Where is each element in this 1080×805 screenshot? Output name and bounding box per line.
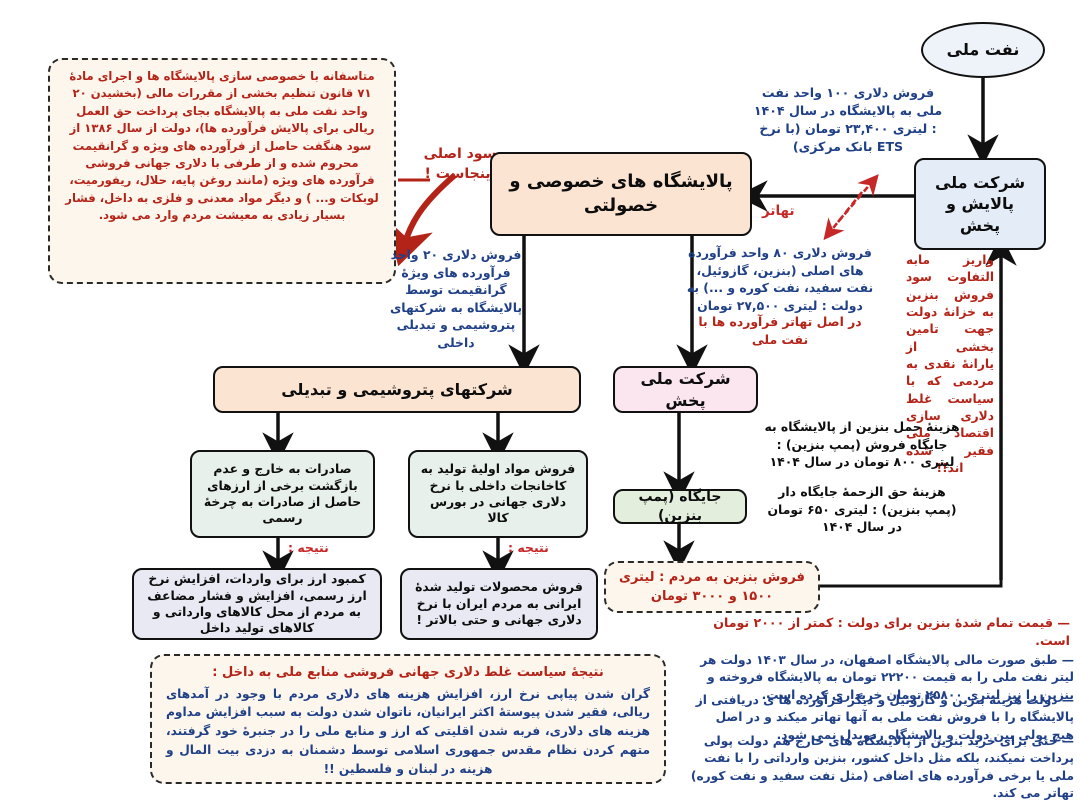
edge-barter-up (838, 182, 872, 222)
result-label-left-text: نتیجه : (288, 540, 329, 555)
bottom-left-conclusion-box: نتیجۀ سیاست غلط دلاری جهانی فروشی منابع … (150, 654, 666, 784)
note-bottom-right-cost-text: — قیمت تمام شدۀ بنزین برای دولت : کمتر ا… (713, 615, 1070, 648)
node-national-distribution-label: شرکت ملی پخش (623, 368, 748, 410)
node-export-no-return[interactable]: صادرات به خارج و عدم بازگشت برخی از ارزه… (190, 450, 375, 538)
node-result-domestic-sale-label: فروش محصولات تولید شدۀ ایرانی به مردم ای… (410, 579, 588, 628)
node-result-domestic-sale[interactable]: فروش محصولات تولید شدۀ ایرانی به مردم ای… (400, 568, 598, 640)
note-bottom-right-import-text: — حتی برای خرید بنزین از پالایشگاه های خ… (691, 734, 1074, 800)
main-profit-text: سود اصلی اینجاست ! (424, 146, 497, 182)
edge-people-to-treasury-line (820, 580, 1001, 586)
diagram-canvas: متاسفانه با خصوصی سازی پالایشگاه ها و اج… (0, 0, 1080, 805)
node-gas-station-label: جایگاه (پمپ بنزین) (623, 488, 737, 525)
note-transport-cost: هزینۀ حمل بنزین از پالایشگاه به جایگاه ف… (762, 418, 962, 471)
note-dollar-sale-100: فروش دلاری ۱۰۰ واحد نفت ملی به پالایشگاه… (752, 84, 944, 156)
barter-label-text: تهاتر (762, 203, 795, 219)
note-station-fee-text: هزینۀ حق الزحمۀ جایگاه دار (پمپ بنزین) :… (767, 484, 956, 534)
note-station-fee: هزینۀ حق الزحمۀ جایگاه دار (پمپ بنزین) :… (762, 483, 962, 536)
node-petrochemical-companies[interactable]: شرکتهای پتروشیمی و تبدیلی (213, 366, 581, 413)
node-gasoline-sale-to-people[interactable]: فروش بنزین به مردم : لیتری ۱۵۰۰ و ۳۰۰۰ ت… (604, 561, 820, 613)
node-result-currency-shortage-label: کمبود ارز برای واردات، افزایش نرخ ارز رس… (142, 571, 372, 637)
node-national-distribution[interactable]: شرکت ملی پخش (613, 366, 758, 413)
edge-main-profit-arrow (404, 175, 455, 246)
result-label-right: نتیجه : (508, 540, 549, 555)
node-refining-distribution-company-label: شرکت ملی پالایش و پخش (924, 172, 1036, 235)
node-private-refineries-label: پالایشگاه های خصوصی و خصولتی (500, 170, 742, 218)
note-bottom-right-cost: — قیمت تمام شدۀ بنزین برای دولت : کمتر ا… (690, 614, 1070, 650)
node-export-no-return-label: صادرات به خارج و عدم بازگشت برخی از ارزه… (200, 461, 365, 527)
bottom-left-conclusion-body: گران شدن پیاپی نرخ ارز، افزایش هزینه های… (166, 685, 650, 780)
top-left-explanation-box: متاسفانه با خصوصی سازی پالایشگاه ها و اج… (48, 58, 396, 284)
note-dollar-sale-80: فروش دلاری ۸۰ واحد فرآورده های اصلی (بنز… (684, 244, 876, 314)
result-label-left: نتیجه : (288, 540, 329, 555)
node-national-oil[interactable]: نفت ملی (921, 22, 1045, 78)
note-transport-cost-text: هزینۀ حمل بنزین از پالایشگاه به جایگاه ف… (764, 419, 959, 469)
result-label-right-text: نتیجه : (508, 540, 549, 555)
note-dollar-sale-20-text: فروش دلاری ۲۰ واحد فرآورده های ویژۀ گران… (390, 247, 522, 350)
node-raw-material-sale-label: فروش مواد اولیۀ تولید به کاخانجات داخلی … (418, 461, 578, 527)
bottom-left-conclusion-body-text: گران شدن پیاپی نرخ ارز، افزایش هزینه های… (166, 687, 650, 777)
node-raw-material-sale[interactable]: فروش مواد اولیۀ تولید به کاخانجات داخلی … (408, 450, 588, 538)
node-gas-station[interactable]: جایگاه (پمپ بنزین) (613, 489, 747, 524)
note-dollar-sale-100-text: فروش دلاری ۱۰۰ واحد نفت ملی به پالایشگاه… (754, 85, 942, 154)
top-left-explanation-text: متاسفانه با خصوصی سازی پالایشگاه ها و اج… (65, 69, 378, 222)
note-dollar-sale-80-text: فروش دلاری ۸۰ واحد فرآورده های اصلی (بنز… (687, 245, 873, 313)
note-dollar-sale-20: فروش دلاری ۲۰ واحد فرآورده های ویژۀ گران… (376, 246, 536, 352)
node-refining-distribution-company[interactable]: شرکت ملی پالایش و پخش (914, 158, 1046, 250)
node-result-currency-shortage[interactable]: کمبود ارز برای واردات، افزایش نرخ ارز رس… (132, 568, 382, 640)
note-bottom-right-import: — حتی برای خرید بنزین از پالایشگاه های خ… (690, 733, 1074, 802)
node-private-refineries[interactable]: پالایشگاه های خصوصی و خصولتی (490, 152, 752, 236)
node-petrochemical-companies-label: شرکتهای پتروشیمی و تبدیلی (281, 379, 513, 400)
bottom-left-conclusion-title-text: نتیجۀ سیاست غلط دلاری جهانی فروشی منابع … (212, 665, 603, 680)
barter-label: تهاتر (762, 203, 795, 219)
node-gasoline-sale-to-people-label: فروش بنزین به مردم : لیتری ۱۵۰۰ و ۳۰۰۰ ت… (618, 568, 806, 607)
note-dollar-sale-80-barter-text: در اصل تهاتر فرآورده ها با نفت ملی (698, 314, 861, 347)
edge-barter-down (830, 192, 862, 232)
node-national-oil-label: نفت ملی (947, 39, 1020, 60)
note-dollar-sale-80-barter: در اصل تهاتر فرآورده ها با نفت ملی (684, 313, 876, 348)
bottom-left-conclusion-title: نتیجۀ سیاست غلط دلاری جهانی فروشی منابع … (166, 663, 650, 683)
